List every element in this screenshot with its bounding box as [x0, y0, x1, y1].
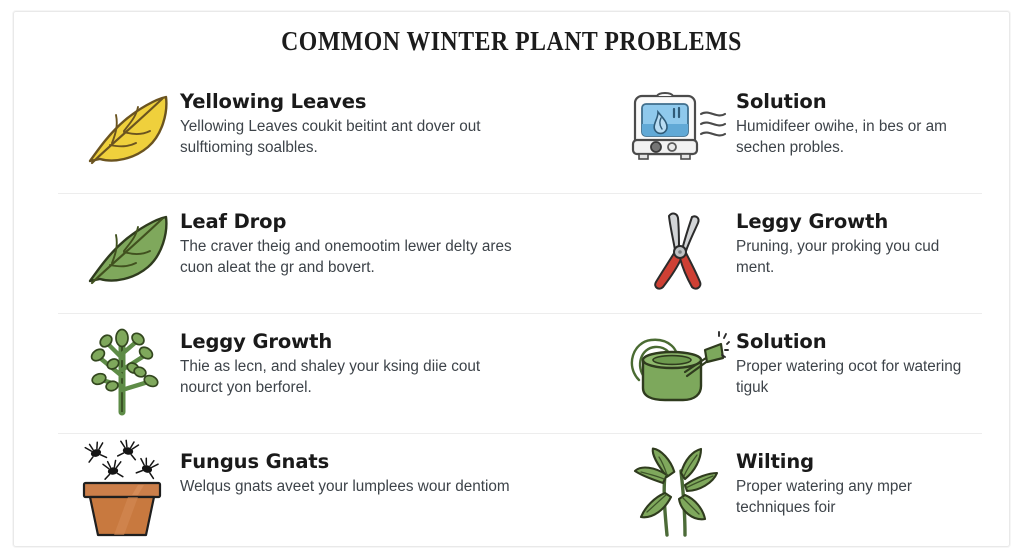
table-row: Yellowing Leaves Yellowing Leaves coukit…: [58, 74, 982, 194]
solution-text-block: Wilting Proper watering any mper techniq…: [736, 434, 982, 518]
problem-cell-leggy-growth[interactable]: Leggy Growth Thie as lecn, and shaley yo…: [58, 314, 618, 418]
item-title: Fungus Gnats: [180, 451, 618, 472]
problem-text-block: Fungus Gnats Welqus gnats aveet your lum…: [180, 434, 618, 498]
leggy-plant-icon: [72, 314, 180, 418]
item-title: Wilting: [736, 451, 982, 472]
problem-cell-leaf-drop[interactable]: Leaf Drop The craver theig and onemootim…: [58, 194, 618, 298]
problem-text-block: Leaf Drop The craver theig and onemootim…: [180, 194, 618, 278]
pruning-shears-icon: [618, 194, 736, 298]
item-description: Yellowing Leaves coukit beitint ant dove…: [180, 117, 520, 158]
item-title: Solution: [736, 91, 982, 112]
item-title: Leggy Growth: [180, 331, 618, 352]
table-row: Leggy Growth Thie as lecn, and shaley yo…: [58, 314, 982, 434]
solution-cell-pruning-shears[interactable]: Leggy Growth Pruning, your proking you c…: [618, 194, 982, 298]
wilting-plant-icon: [618, 434, 736, 538]
item-description: The craver theig and onemootim lewer del…: [180, 237, 520, 278]
yellow-leaf-icon: [72, 74, 180, 178]
problem-cell-yellowing-leaves[interactable]: Yellowing Leaves Yellowing Leaves coukit…: [58, 74, 618, 178]
fungus-gnats-pot-icon: [72, 434, 180, 538]
table-row: Leaf Drop The craver theig and onemootim…: [58, 194, 982, 314]
humidifier-icon: [618, 74, 736, 178]
item-title: Leggy Growth: [736, 211, 982, 232]
item-description: Pruning, your proking you cud ment.: [736, 237, 981, 278]
solution-cell-wilting[interactable]: Wilting Proper watering any mper techniq…: [618, 434, 982, 538]
infographic-card: COMMON WINTER PLANT PROBLEMS Yellowing L: [13, 11, 1010, 547]
green-leaf-icon: [72, 194, 180, 298]
item-description: Thie as lecn, and shaley your ksing diie…: [180, 357, 520, 398]
solution-cell-humidifier[interactable]: Solution Humidifeer owihe, in bes or am …: [618, 74, 982, 178]
solution-text-block: Solution Proper watering ocot for wateri…: [736, 314, 982, 398]
item-description: Welqus gnats aveet your lumplees wour de…: [180, 477, 520, 497]
watering-can-icon: [618, 314, 736, 418]
item-title: Leaf Drop: [180, 211, 618, 232]
problem-text-block: Leggy Growth Thie as lecn, and shaley yo…: [180, 314, 618, 398]
item-description: Proper watering any mper techniques foir: [736, 477, 981, 518]
problem-cell-fungus-gnats[interactable]: Fungus Gnats Welqus gnats aveet your lum…: [58, 434, 618, 538]
table-row: Fungus Gnats Welqus gnats aveet your lum…: [58, 434, 982, 553]
problem-rows-list: Yellowing Leaves Yellowing Leaves coukit…: [58, 74, 982, 553]
solution-text-block: Leggy Growth Pruning, your proking you c…: [736, 194, 982, 278]
solution-text-block: Solution Humidifeer owihe, in bes or am …: [736, 74, 982, 158]
page-title: COMMON WINTER PLANT PROBLEMS: [74, 26, 950, 57]
item-description: Proper watering ocot for watering tiguk: [736, 357, 981, 398]
problem-text-block: Yellowing Leaves Yellowing Leaves coukit…: [180, 74, 618, 158]
item-title: Yellowing Leaves: [180, 91, 618, 112]
solution-cell-watering-can[interactable]: Solution Proper watering ocot for wateri…: [618, 314, 982, 418]
item-title: Solution: [736, 331, 982, 352]
item-description: Humidifeer owihe, in bes or am sechen pr…: [736, 117, 981, 158]
